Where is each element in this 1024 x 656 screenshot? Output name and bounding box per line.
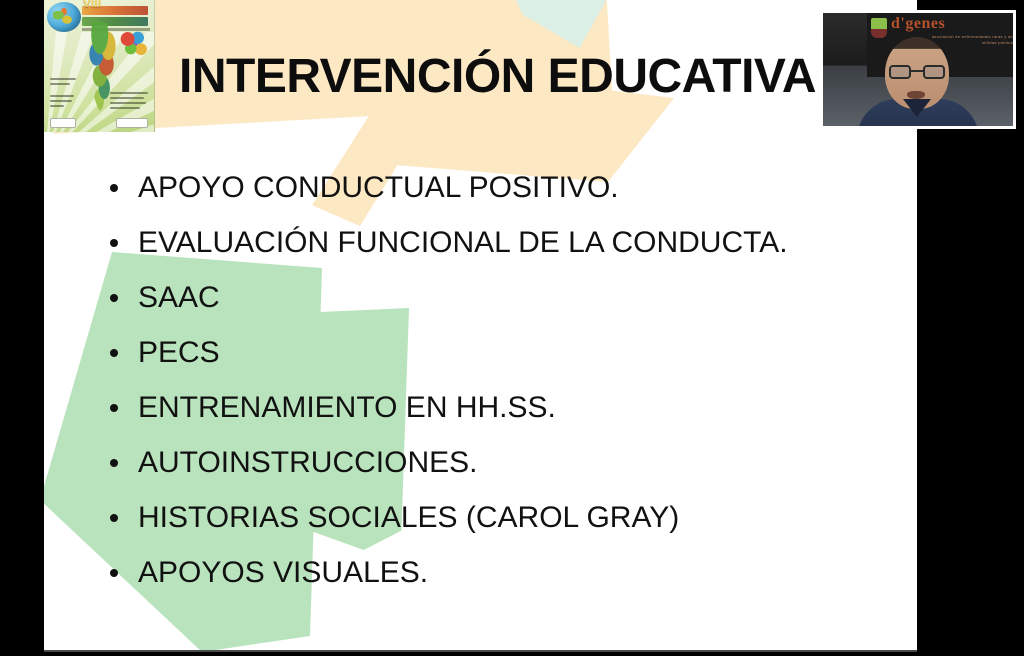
poster-text-line xyxy=(50,100,72,102)
list-item-label: HISTORIAS SOCIALES (CAROL GRAY) xyxy=(138,503,679,533)
list-item-label: APOYOS VISUALES. xyxy=(138,558,428,588)
poster-logo-badge xyxy=(50,118,76,128)
bullet-dot-icon xyxy=(110,294,118,302)
presentation-slide[interactable]: VIII INTERVENCIÓN EDUCATIVA APOYO CONDUC… xyxy=(44,0,917,651)
list-item-label: SAAC xyxy=(138,283,220,313)
bullet-dot-icon xyxy=(110,349,118,357)
list-item: ENTRENAMIENTO EN HH.SS. xyxy=(96,380,886,435)
bullet-dot-icon xyxy=(110,404,118,412)
poster-text-line xyxy=(110,97,144,99)
poster-edition-number: VIII xyxy=(83,0,102,10)
bullet-dot-icon xyxy=(110,514,118,522)
list-item: HISTORIAS SOCIALES (CAROL GRAY) xyxy=(96,490,886,545)
poster-text-line xyxy=(50,83,70,85)
bullet-dot-icon xyxy=(110,459,118,467)
slide-title: INTERVENCIÓN EDUCATIVA xyxy=(179,52,879,102)
dgenes-logo-mark-icon xyxy=(871,18,887,38)
list-item-label: AUTOINSTRUCCIONES. xyxy=(138,448,477,478)
poster-globe-icon xyxy=(47,2,81,32)
list-item-label: PECS xyxy=(138,338,220,368)
poster-dot-cluster-graphic xyxy=(118,30,150,60)
poster-text-line xyxy=(110,102,146,104)
slide-bullet-list: APOYO CONDUCTUAL POSITIVO. EVALUACIÓN FU… xyxy=(96,160,886,600)
poster-text-line xyxy=(50,78,76,80)
glasses-lens-left xyxy=(889,65,911,79)
glasses-bridge xyxy=(911,70,923,72)
webcam-video-tile[interactable]: d'genes asociación de enfermedades raras… xyxy=(820,10,1016,129)
dgenes-logo-text: d'genes xyxy=(891,15,945,33)
list-item-label: ENTRENAMIENTO EN HH.SS. xyxy=(138,393,556,423)
bullet-dot-icon xyxy=(110,239,118,247)
slide-bottom-edge xyxy=(44,650,917,652)
list-item: AUTOINSTRUCCIONES. xyxy=(96,435,886,490)
speaker-mouth xyxy=(907,91,925,99)
poster-text-line xyxy=(110,92,148,94)
poster-text-line xyxy=(50,95,74,97)
dgenes-logo-subtitle: asociación de enfermedades raras y de ut… xyxy=(927,34,1013,46)
decor-shape-mint-triangle xyxy=(499,0,629,48)
list-item: EVALUACIÓN FUNCIONAL DE LA CONDUCTA. xyxy=(96,215,886,270)
list-item: SAAC xyxy=(96,270,886,325)
glasses-lens-right xyxy=(923,65,945,79)
poster-text-line xyxy=(110,107,140,109)
video-call-stage: VIII INTERVENCIÓN EDUCATIVA APOYO CONDUC… xyxy=(0,0,1024,656)
bullet-dot-icon xyxy=(110,184,118,192)
list-item: APOYO CONDUCTUAL POSITIVO. xyxy=(96,160,886,215)
speaker-glasses-icon xyxy=(889,65,945,79)
list-item-label: EVALUACIÓN FUNCIONAL DE LA CONDUCTA. xyxy=(138,228,788,258)
list-item: APOYOS VISUALES. xyxy=(96,545,886,600)
poster-text-line xyxy=(50,105,64,107)
congress-poster-thumbnail: VIII xyxy=(44,0,155,132)
poster-sponsor-badge xyxy=(116,118,148,128)
list-item: PECS xyxy=(96,325,886,380)
poster-subtitle-banner xyxy=(82,17,148,26)
bullet-dot-icon xyxy=(110,569,118,577)
list-item-label: APOYO CONDUCTUAL POSITIVO. xyxy=(138,173,619,203)
